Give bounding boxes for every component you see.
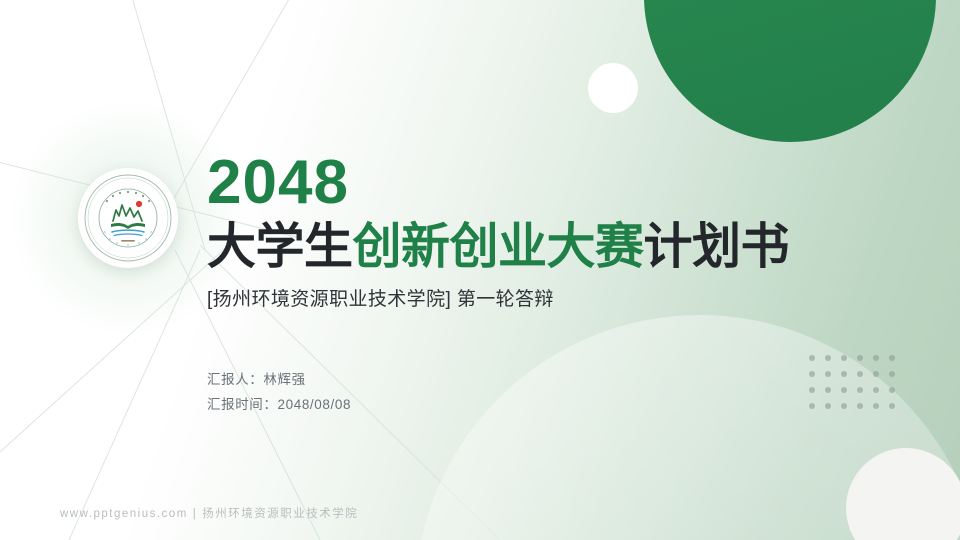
green-accent-circle <box>644 0 936 142</box>
title-group: 2048 大学生创新创业大赛计划书 [扬州环境资源职业技术学院] 第一轮答辩 <box>207 152 847 311</box>
headline-part-3: 计划书 <box>644 220 790 274</box>
footer-separator: | <box>193 508 198 520</box>
year-heading: 2048 <box>207 152 847 214</box>
headline-part-2: 创新创业大赛 <box>353 220 644 274</box>
emblem-year <box>121 240 135 242</box>
slide-canvas: 2048 大学生创新创业大赛计划书 [扬州环境资源职业技术学院] 第一轮答辩 汇… <box>0 0 960 540</box>
headline-part-1: 大学生 <box>207 220 353 274</box>
presentation-meta: 汇报人：林辉强 汇报时间：2048/08/08 <box>207 368 351 417</box>
white-accent-circle <box>588 63 638 113</box>
presenter-line: 汇报人：林辉强 <box>207 368 351 393</box>
subtitle: [扬州环境资源职业技术学院] 第一轮答辩 <box>207 284 847 311</box>
date-line: 汇报时间：2048/08/08 <box>207 393 351 418</box>
university-logo <box>78 168 178 268</box>
main-headline: 大学生创新创业大赛计划书 <box>207 222 847 274</box>
footer-organization: 扬州环境资源职业技术学院 <box>202 508 358 520</box>
slide-footer: www.pptgenius.com|扬州环境资源职业技术学院 <box>60 505 358 521</box>
emblem-sun <box>136 201 142 207</box>
university-emblem-icon <box>82 172 174 264</box>
footer-site: www.pptgenius.com <box>60 508 188 520</box>
